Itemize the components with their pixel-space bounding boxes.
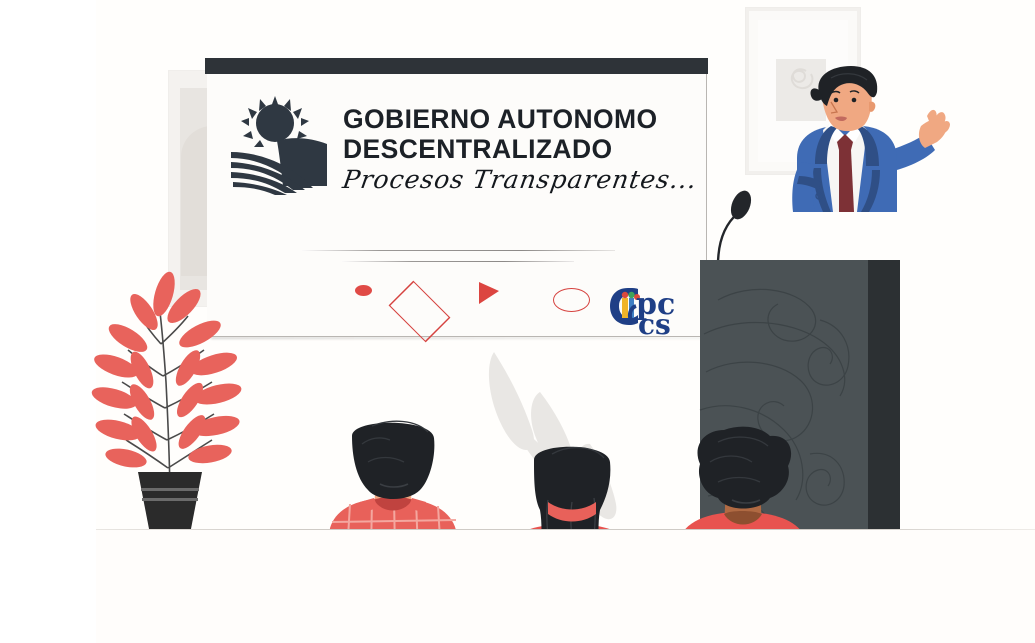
lectern-side — [868, 260, 900, 530]
screen-shadow — [211, 337, 708, 339]
shape-ellipse — [553, 288, 590, 312]
slide-header: GOBIERNO AUTONOMO DESCENTRALIZADO Proces… — [225, 90, 690, 210]
screen-surface: GOBIERNO AUTONOMO DESCENTRALIZADO Proces… — [207, 74, 707, 337]
slide-title-block: GOBIERNO AUTONOMO DESCENTRALIZADO Proces… — [343, 104, 693, 194]
svg-text:cs: cs — [638, 308, 671, 341]
slide-title-line2: DESCENTRALIZADO — [343, 134, 693, 164]
shape-dot — [355, 285, 372, 296]
slide-divider-1 — [302, 250, 615, 251]
slide-shape-row: pc cs — [207, 270, 706, 332]
gad-sun-field-logo-icon — [231, 94, 335, 198]
projector-screen[interactable]: GOBIERNO AUTONOMO DESCENTRALIZADO Proces… — [205, 58, 708, 339]
plant-pot — [138, 472, 202, 534]
cpccs-logo-icon: pc cs — [606, 276, 678, 336]
slide-subtitle: Procesos Transparentes... — [341, 165, 696, 194]
shape-triangle — [479, 282, 499, 304]
screen-top-bar — [205, 58, 708, 74]
shape-diamond — [389, 281, 451, 343]
presentation-illustration: GOBIERNO AUTONOMO DESCENTRALIZADO Proces… — [0, 0, 1035, 643]
potted-plant — [92, 272, 260, 534]
presenter-figure — [735, 72, 950, 272]
slide-divider-2 — [342, 261, 574, 262]
floor — [96, 530, 1035, 643]
slide-title-line1: GOBIERNO AUTONOMO — [343, 104, 693, 134]
